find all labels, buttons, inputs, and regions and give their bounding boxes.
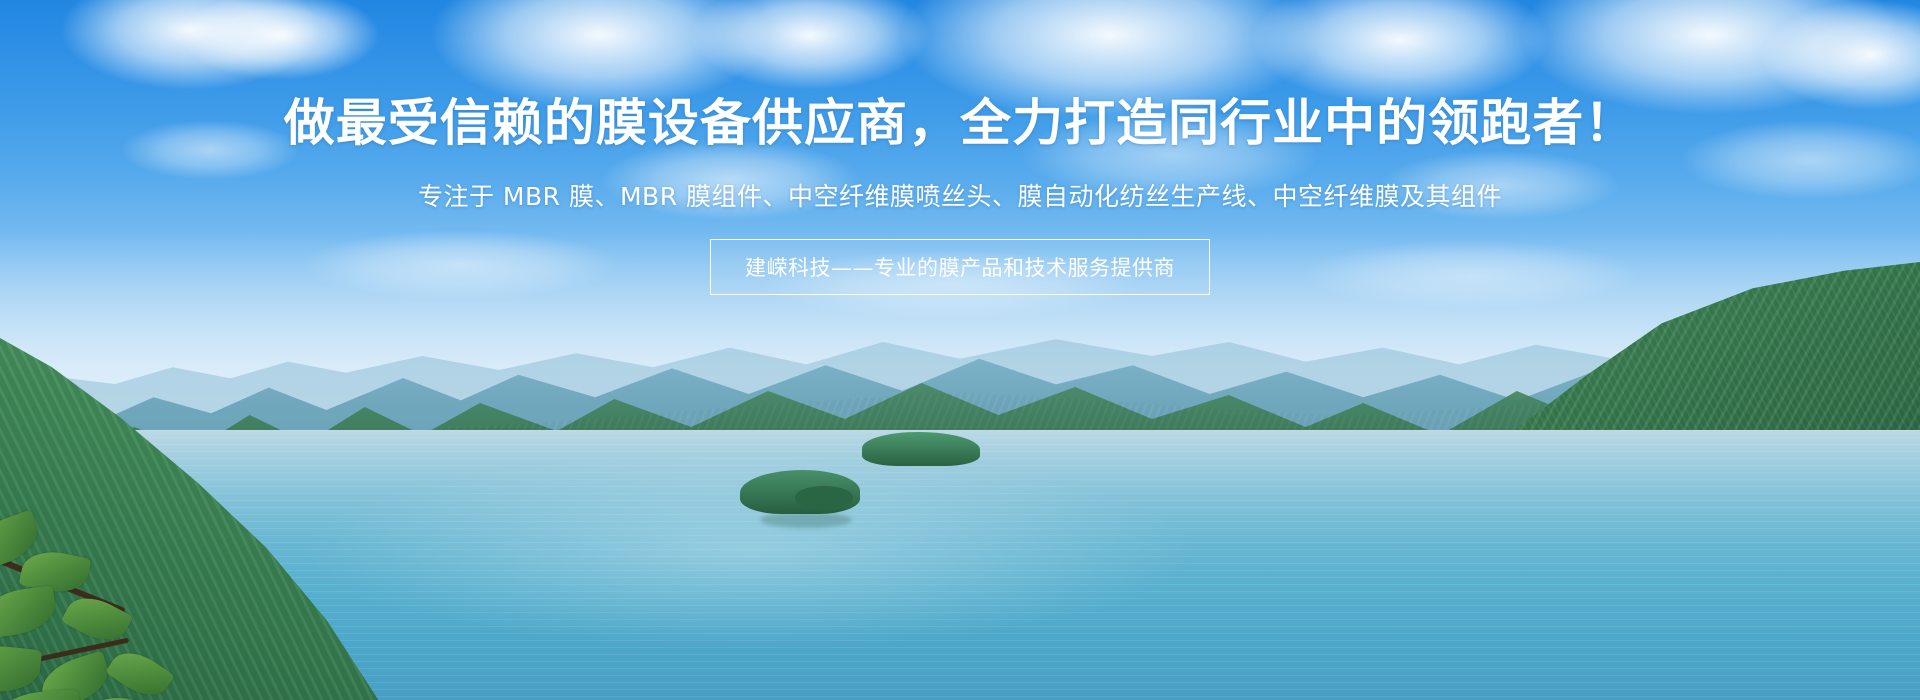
- banner-tagline-box[interactable]: 建嵘科技——专业的膜产品和技术服务提供商: [710, 239, 1210, 295]
- hero-banner: 做最受信赖的膜设备供应商，全力打造同行业中的领跑者！ 专注于 MBR 膜、MBR…: [0, 0, 1920, 700]
- leaves-icon: [0, 460, 270, 700]
- island-reflection: [760, 512, 852, 528]
- island-small: [795, 486, 853, 508]
- island-far: [862, 432, 980, 466]
